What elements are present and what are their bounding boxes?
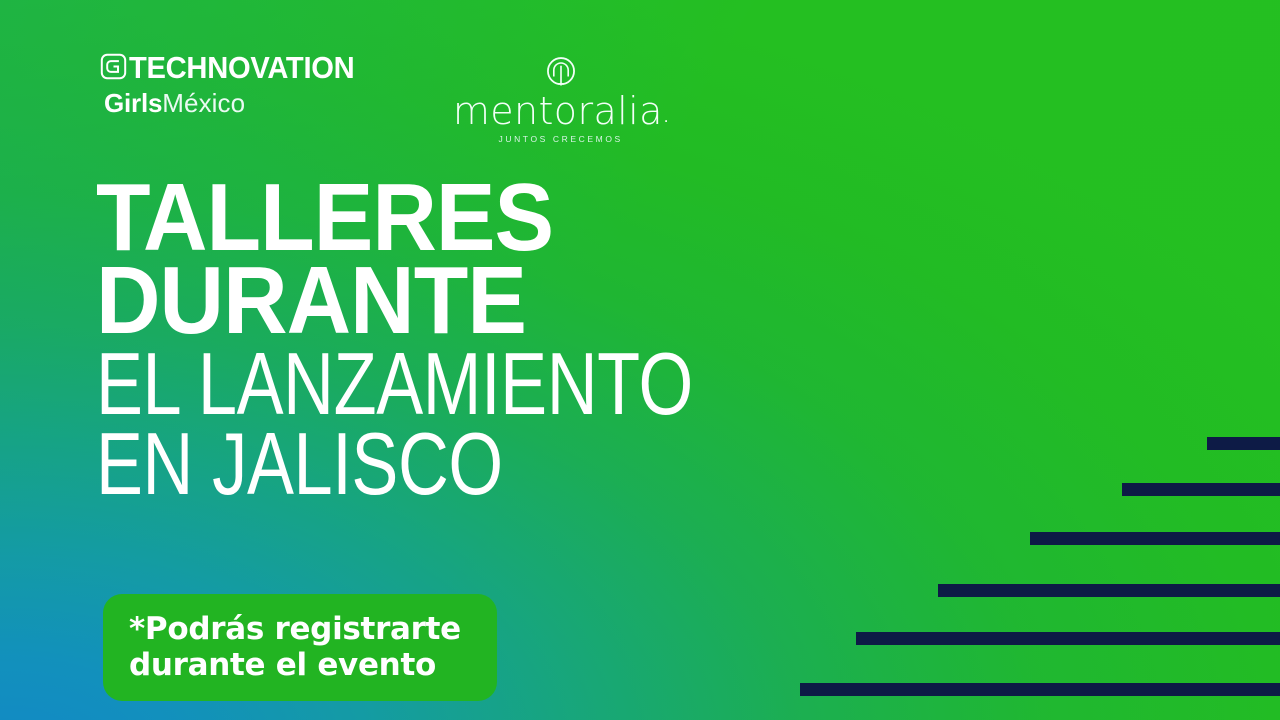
mentoralia-wordmark: mentoralia [453,92,663,130]
headline-line-2: DURANTE [96,261,790,342]
logo-row: TECHNOVATION GirlsMéxico mentoralia . JU… [100,52,669,144]
headline-line-3: EL LANZAMIENTO [96,347,693,421]
technovation-girls-label: Girls [104,88,162,118]
registration-note-badge: *Podrás registrarte durante el evento [103,594,497,701]
staircase-bar-2 [1122,483,1280,496]
technovation-sub-wordmark: GirlsMéxico [104,90,369,116]
staircase-bar-3 [1030,532,1280,545]
staircase-bar-5 [856,632,1280,645]
technovation-mexico-label: México [162,88,245,118]
mentoralia-trademark-dot: . [664,108,669,125]
mentoralia-logo: mentoralia . JUNTOS CRECEMOS [453,52,669,144]
staircase-bar-6 [800,683,1280,696]
technovation-wordmark: TECHNOVATION [129,52,354,83]
technovation-girls-mexico-logo: TECHNOVATION GirlsMéxico [100,52,369,116]
mentoralia-circle-emblem-icon [543,54,579,90]
mentoralia-tagline: JUNTOS CRECEMOS [498,134,622,144]
headline-block: TALLERES DURANTE EL LANZAMIENTO EN JALIS… [96,178,842,501]
staircase-bar-1 [1207,437,1280,450]
staircase-bar-4 [938,584,1280,597]
note-line-2: durante el evento [129,648,497,683]
technovation-g-mark-icon [100,53,127,80]
headline-line-4: EN JALISCO [96,427,693,501]
poster-stage: TECHNOVATION GirlsMéxico mentoralia . JU… [0,0,1280,720]
note-line-1: *Podrás registrarte [129,612,497,647]
